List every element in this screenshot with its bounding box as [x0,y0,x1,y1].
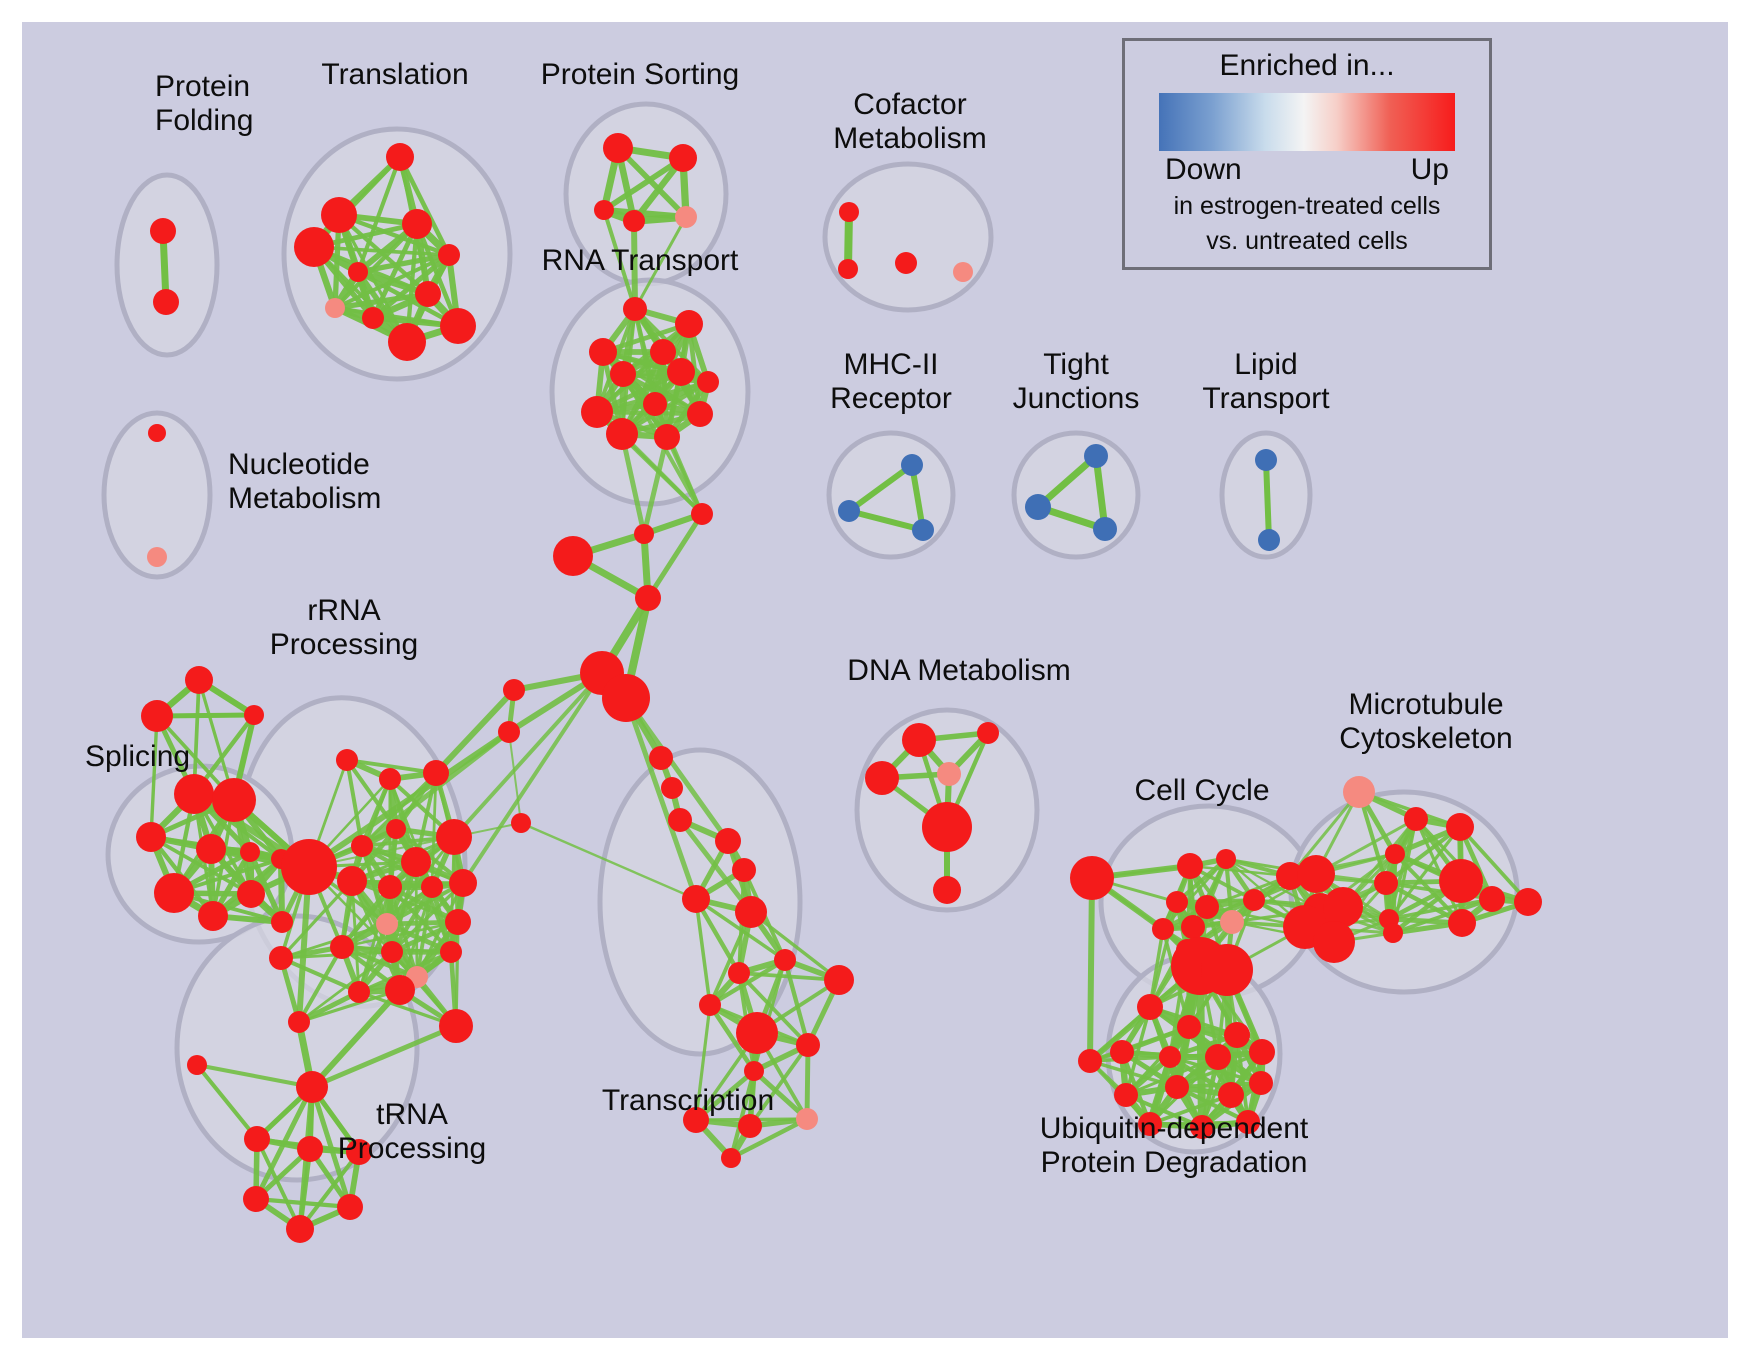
network-node[interactable] [388,323,426,361]
cluster-label-protein-folding: Protein Folding [155,70,253,138]
network-node[interactable] [744,1061,764,1081]
network-node[interactable] [1177,1015,1201,1039]
network-node[interactable] [438,244,460,266]
network-node[interactable] [865,761,899,795]
network-node[interactable] [796,1033,820,1057]
network-node[interactable] [669,144,697,172]
network-node[interactable] [602,674,650,722]
edge [416,862,417,977]
network-node[interactable] [1448,909,1476,937]
network-node[interactable] [824,965,854,995]
network-node[interactable] [1152,918,1174,940]
network-node[interactable] [1177,853,1203,879]
network-node[interactable] [325,298,345,318]
network-node[interactable] [294,227,334,267]
edge [648,514,702,598]
network-node[interactable] [594,200,614,220]
network-node[interactable] [244,705,264,725]
network-node[interactable] [286,1215,314,1243]
network-node[interactable] [634,524,654,544]
network-node[interactable] [1255,449,1277,471]
network-node[interactable] [699,994,721,1016]
network-node[interactable] [623,297,647,321]
network-node[interactable] [243,1186,269,1212]
network-node[interactable] [1166,891,1188,913]
network-node[interactable] [288,1011,310,1033]
network-node[interactable] [296,1071,328,1103]
network-node[interactable] [1110,1040,1134,1064]
network-node[interactable] [187,1055,207,1075]
cluster-label-lipid-transport: Lipid Transport [1202,348,1329,416]
network-node[interactable] [697,371,719,393]
network-node[interactable] [401,847,431,877]
figure-root: Protein FoldingTranslationProtein Sortin… [0,0,1750,1360]
network-node[interactable] [838,500,860,522]
network-node[interactable] [148,424,166,442]
network-node[interactable] [1224,1022,1250,1048]
mhc-hull [829,433,953,557]
tight-junctions-hull [1014,433,1138,557]
network-node[interactable] [1137,994,1163,1020]
legend-subtitle-line1: in estrogen-treated cells [1125,191,1489,222]
network-node[interactable] [736,1012,778,1054]
cluster-label-cofactor-metabolism: Cofactor Metabolism [833,88,986,156]
network-node[interactable] [606,418,638,450]
network-node[interactable] [933,876,961,904]
network-node[interactable] [1313,921,1355,963]
network-node[interactable] [1243,889,1265,911]
network-node[interactable] [147,547,167,567]
network-node[interactable] [336,749,358,771]
network-node[interactable] [174,774,214,814]
network-node[interactable] [589,338,617,366]
network-node[interactable] [1114,1083,1138,1107]
network-node[interactable] [1404,807,1428,831]
network-node[interactable] [649,746,673,770]
network-node[interactable] [337,866,367,896]
network-node[interactable] [922,802,972,852]
network-node[interactable] [1195,895,1219,919]
network-node[interactable] [650,339,676,365]
network-node[interactable] [297,1136,323,1162]
network-node[interactable] [330,935,354,959]
legend-subtitle-line2: vs. untreated cells [1125,226,1489,257]
network-node[interactable] [511,813,531,833]
network-node[interactable] [1249,1071,1273,1095]
network-node[interactable] [735,896,767,928]
network-node[interactable] [1258,529,1280,551]
network-node[interactable] [237,880,265,908]
edge [463,673,602,883]
network-node[interactable] [154,873,194,913]
network-node[interactable] [1025,494,1051,520]
cluster-label-splicing: Splicing [85,740,190,774]
network-node[interactable] [1514,888,1542,916]
network-node[interactable] [895,252,917,274]
network-node[interactable] [240,842,260,862]
network-node[interactable] [351,835,373,857]
network-node[interactable] [378,875,402,899]
network-node[interactable] [1343,776,1375,808]
cluster-label-microtubule-cytoskeleton: Microtubule Cytoskeleton [1339,688,1512,756]
network-node[interactable] [715,828,741,854]
network-node[interactable] [1297,855,1335,893]
network-node[interactable] [1218,1082,1244,1108]
network-node[interactable] [386,819,406,839]
network-node[interactable] [977,722,999,744]
network-node[interactable] [271,911,293,933]
network-canvas: Protein FoldingTranslationProtein Sortin… [22,22,1728,1338]
network-node[interactable] [423,760,449,786]
network-node[interactable] [581,396,613,428]
network-node[interactable] [732,858,756,882]
network-node[interactable] [337,1194,363,1220]
network-node[interactable] [185,666,213,694]
network-node[interactable] [348,981,370,1003]
network-node[interactable] [321,197,357,233]
network-node[interactable] [1439,859,1483,903]
network-node[interactable] [445,909,471,935]
network-node[interactable] [654,424,680,450]
network-node[interactable] [796,1108,818,1130]
network-node[interactable] [421,876,443,898]
legend-color-gradient [1159,93,1455,151]
network-node[interactable] [385,975,415,1005]
network-node[interactable] [901,454,923,476]
network-node[interactable] [381,941,403,963]
network-node[interactable] [721,1148,741,1168]
network-node[interactable] [667,358,695,386]
network-node[interactable] [449,869,477,897]
network-node[interactable] [379,768,401,790]
network-node[interactable] [1479,886,1505,912]
cluster-label-translation: Translation [321,58,468,92]
network-node[interactable] [440,941,462,963]
network-node[interactable] [402,209,432,239]
network-node[interactable] [498,721,520,743]
network-node[interactable] [661,777,683,799]
cluster-label-rna-transport: RNA Transport [542,244,739,278]
network-node[interactable] [440,308,476,344]
network-node[interactable] [623,210,645,232]
network-node[interactable] [1078,1049,1102,1073]
cluster-label-trna-processing: tRNA Processing [338,1098,486,1166]
network-node[interactable] [610,361,636,387]
cluster-label-cell-cycle: Cell Cycle [1134,774,1269,808]
network-node[interactable] [1216,849,1236,869]
network-node[interactable] [675,310,703,338]
network-node[interactable] [774,949,796,971]
network-node[interactable] [150,218,176,244]
network-node[interactable] [153,289,179,315]
cluster-label-tight-junctions: Tight Junctions [1013,348,1140,416]
network-node[interactable] [682,885,710,913]
network-node[interactable] [553,536,593,576]
network-node[interactable] [902,723,936,757]
network-node[interactable] [937,762,961,786]
network-node[interactable] [198,901,228,931]
edge [1266,460,1269,540]
network-node[interactable] [1323,887,1363,927]
edge [1090,878,1092,1061]
network-node[interactable] [635,585,661,611]
network-node[interactable] [1446,813,1474,841]
network-node[interactable] [436,819,472,855]
cluster-label-rrna-processing: rRNA Processing [270,594,418,662]
cluster-label-dna-metabolism: DNA Metabolism [847,654,1070,688]
network-node[interactable] [1084,444,1108,468]
network-node[interactable] [675,206,697,228]
network-node[interactable] [212,778,256,822]
cluster-label-protein-sorting: Protein Sorting [541,58,739,92]
network-node[interactable] [1093,517,1117,541]
network-node[interactable] [953,262,973,282]
network-node[interactable] [839,202,859,222]
cluster-label-transcription: Transcription [602,1084,774,1118]
cluster-label-mhc-ii-receptor: MHC-II Receptor [830,348,952,416]
legend-panel: Enriched in... Down Up in estrogen-treat… [1122,38,1492,270]
network-node[interactable] [912,519,934,541]
network-node[interactable] [603,133,633,163]
network-node[interactable] [1070,856,1114,900]
network-node[interactable] [728,962,750,984]
network-node[interactable] [691,503,713,525]
edges [151,148,1528,1229]
network-node[interactable] [415,281,441,307]
network-node[interactable] [1181,915,1205,939]
network-node[interactable] [244,1126,270,1152]
network-node[interactable] [281,839,337,895]
network-node[interactable] [386,143,414,171]
network-node[interactable] [1374,871,1398,895]
network-node[interactable] [1249,1039,1275,1065]
network-node[interactable] [376,913,398,935]
network-node[interactable] [141,700,173,732]
cluster-label-ubiquitin-protein-degradation: Ubiquitin-dependent Protein Degradation [1040,1112,1309,1180]
network-node[interactable] [196,834,226,864]
network-node[interactable] [1159,1046,1181,1068]
network-node[interactable] [1220,910,1244,934]
network-node[interactable] [1201,944,1253,996]
network-node[interactable] [838,259,858,279]
network-node[interactable] [362,307,384,329]
cluster-label-nucleotide-metabolism: Nucleotide Metabolism [228,448,381,516]
network-node[interactable] [1385,844,1405,864]
network-node[interactable] [687,401,713,427]
network-node[interactable] [269,946,293,970]
legend-title: Enriched in... [1125,49,1489,83]
legend-low-label: Down [1165,153,1242,187]
network-node[interactable] [1165,1075,1189,1099]
network-node[interactable] [439,1009,473,1043]
network-node[interactable] [643,392,667,416]
network-node[interactable] [348,262,368,282]
network-node[interactable] [1383,923,1403,943]
network-node[interactable] [668,808,692,832]
network-node[interactable] [503,679,525,701]
network-node[interactable] [1205,1044,1231,1070]
network-node[interactable] [136,822,166,852]
legend-high-label: Up [1411,153,1449,187]
